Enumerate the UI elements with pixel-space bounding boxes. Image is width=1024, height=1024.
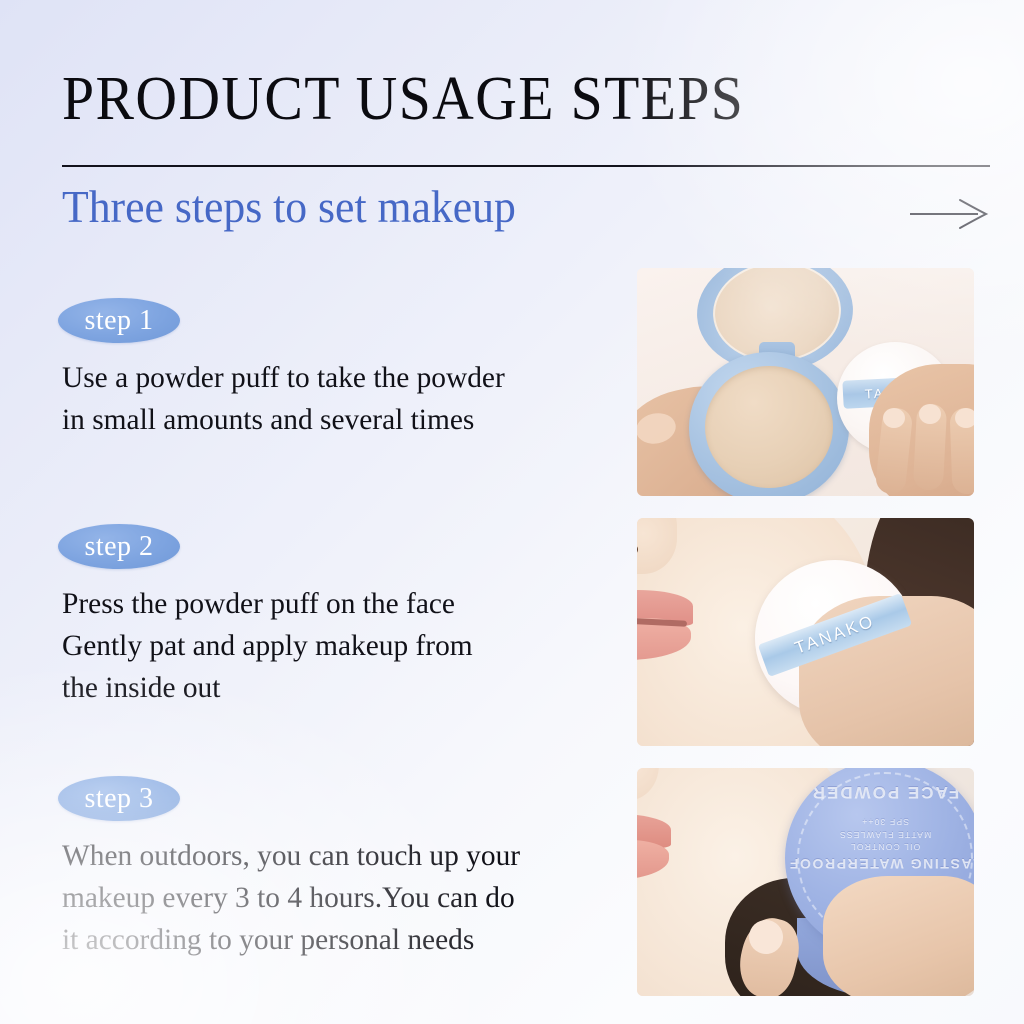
step-block-2: step 2 Press the powder puff on the face…	[58, 524, 638, 709]
photo2-nose	[637, 518, 677, 574]
photo3-nose	[637, 768, 659, 800]
photo3-lid-text-claims: OIL CONTROL MATTE FLAWLESS SPF 30++	[785, 816, 974, 853]
step-text-3: When outdoors, you can touch up your mak…	[62, 835, 626, 961]
product-usage-poster: PRODUCT USAGE STEPS Three steps to set m…	[0, 0, 1024, 1024]
step-text-2: Press the powder puff on the face Gently…	[62, 583, 626, 709]
step-badge-3: step 3	[58, 776, 180, 821]
header-divider	[62, 165, 990, 167]
photo3-hand	[823, 876, 974, 996]
page-title: PRODUCT USAGE STEPS	[62, 68, 744, 130]
arrow-right-icon	[908, 196, 990, 232]
photo1-pressed-powder	[705, 366, 833, 488]
step-badge-2: step 2	[58, 524, 180, 569]
page-subtitle: Three steps to set makeup	[62, 182, 516, 233]
step-badge-1: step 1	[58, 298, 180, 343]
step-photo-1: TANAKO	[637, 268, 974, 496]
photo3-lid-text-lasting-waterproof: LASTING WATERPROOF	[785, 856, 974, 872]
step-text-1: Use a powder puff to take the powder in …	[62, 357, 626, 441]
step-photo-3: FACE POWDER OIL CONTROL MATTE FLAWLESS S…	[637, 768, 974, 996]
step-photo-2: TANAKO	[637, 518, 974, 746]
step-block-3: step 3 When outdoors, you can touch up y…	[58, 776, 638, 961]
step-block-1: step 1 Use a powder puff to take the pow…	[58, 298, 638, 441]
photo3-lid-text-face-powder: FACE POWDER	[785, 782, 974, 802]
photo1-compact-base	[689, 352, 849, 496]
